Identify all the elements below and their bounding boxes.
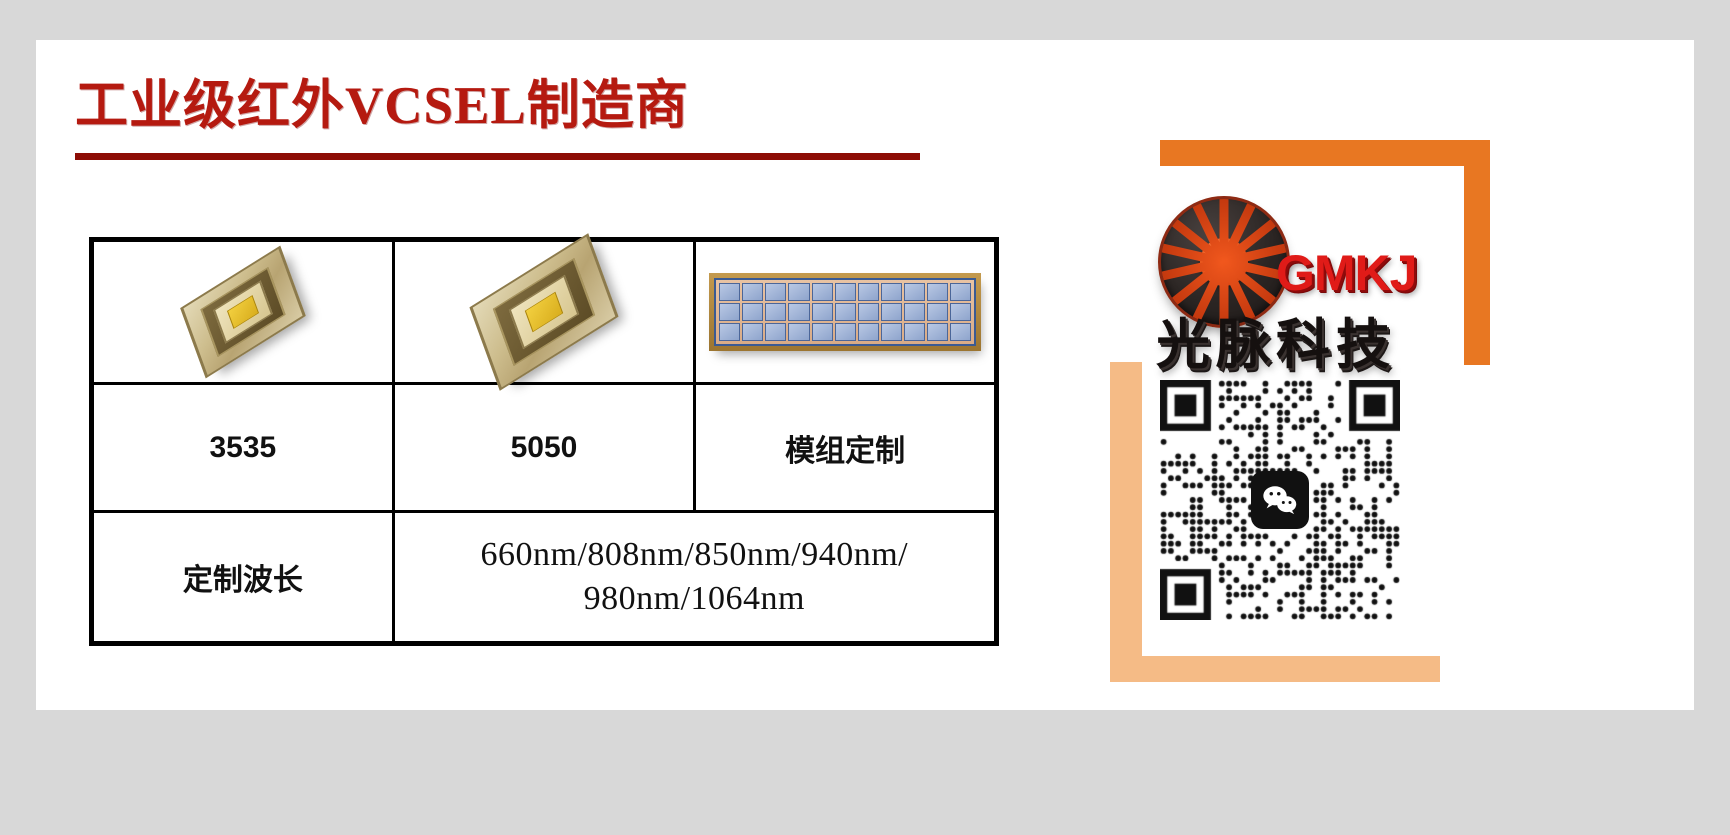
emitter-cell [858,323,879,341]
wechat-icon [1251,471,1309,529]
emitter-cell [765,303,786,321]
emitter-cell [904,283,925,301]
emitter-cell [742,323,763,341]
wavelength-line-2: 980nm/1064nm [395,577,994,621]
emitter-cell [904,323,925,341]
emitter-cell [858,283,879,301]
wavelength-line-1: 660nm/808nm/850nm/940nm/ [395,533,994,577]
table-row-images [92,240,997,384]
cell-image-5050 [393,240,695,384]
cell-model-module: 模组定制 [695,384,997,512]
emitter-cell [835,323,856,341]
emitter-cell [812,283,833,301]
chip-5050-artwork [395,242,694,382]
right-column: GMKJ 光脉科技 [1100,130,1500,690]
emitter-cell [835,283,856,301]
brand-acronym: GMKJ [1276,244,1416,302]
emitter-cell [788,283,809,301]
emitter-cell [904,303,925,321]
spec-table: 3535 5050 模组定制 定制波长 660nm/808nm/850nm/94… [89,237,999,646]
emitter-cell [788,323,809,341]
emitter-cell [881,303,902,321]
ceramic-package-icon [469,233,618,391]
vcsel-array-icon [709,273,981,351]
poster-root: 工业级红外VCSEL制造商 [0,0,1730,835]
title-underline [75,153,920,160]
emitter-cell [927,303,948,321]
emitter-cell [765,283,786,301]
emitter-cell [950,283,971,301]
emitter-cell [950,303,971,321]
chip-3535-artwork [94,242,392,382]
emitter-cell [788,303,809,321]
emitter-cell [742,303,763,321]
emitter-cell [927,283,948,301]
emitter-cell [765,323,786,341]
table-row-models: 3535 5050 模组定制 [92,384,997,512]
emitter-cell [835,303,856,321]
left-column: 工业级红外VCSEL制造商 [75,80,1035,670]
page-title: 工业级红外VCSEL制造商 [75,80,1035,133]
module-artwork [696,242,994,382]
cell-wavelength-label: 定制波长 [92,512,394,644]
table-row-wavelength: 定制波长 660nm/808nm/850nm/940nm/ 980nm/1064… [92,512,997,644]
emitter-cell [812,303,833,321]
emitter-cell [742,283,763,301]
emitter-cell [719,303,740,321]
emitter-cell [719,323,740,341]
cell-image-module [695,240,997,384]
emitter-cell [950,323,971,341]
brand-chinese-name: 光脉科技 [1156,300,1396,379]
ceramic-package-icon [180,246,306,379]
cell-wavelength-values: 660nm/808nm/850nm/940nm/ 980nm/1064nm [393,512,996,644]
cell-image-3535 [92,240,394,384]
emitter-cell [881,323,902,341]
emitter-cell [719,283,740,301]
cell-model-3535: 3535 [92,384,394,512]
cell-model-5050: 5050 [393,384,695,512]
qr-code[interactable] [1160,380,1400,620]
emitter-cell [927,323,948,341]
emitter-cell [881,283,902,301]
emitter-cell [858,303,879,321]
company-logo: GMKJ 光脉科技 [1148,192,1448,352]
emitter-cell [812,323,833,341]
